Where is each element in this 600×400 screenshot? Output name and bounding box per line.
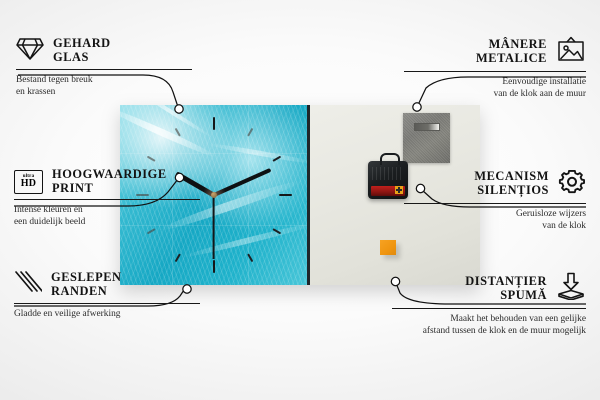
mechanism-hook xyxy=(380,153,400,165)
picture-frame-icon xyxy=(556,36,586,68)
clock-center-hub xyxy=(211,192,217,198)
battery xyxy=(371,186,405,196)
feature-geslepen-randen[interactable]: GESLEPEN RANDEN Gladde en veilige afwerk… xyxy=(14,270,200,320)
feature-description: Geruisloze wijzers van de klok xyxy=(404,208,586,232)
clock-second-hand xyxy=(213,195,215,259)
divider xyxy=(16,69,192,70)
diagonal-lines-icon xyxy=(14,270,42,300)
foam-spacer xyxy=(380,240,396,255)
divider xyxy=(14,303,200,304)
battery-plus-icon xyxy=(395,186,403,194)
press-down-icon xyxy=(556,272,586,305)
infographic-canvas: GEHARD GLAS Bestand tegen breuk en krass… xyxy=(0,0,600,400)
feature-title: GEHARD GLAS xyxy=(53,37,111,65)
divider xyxy=(404,203,586,204)
diamond-icon xyxy=(16,36,44,66)
hanger-slot xyxy=(414,123,440,131)
feature-description: Bestand tegen breuk en krassen xyxy=(16,74,192,98)
divider xyxy=(404,71,586,72)
feature-title: GESLEPEN RANDEN xyxy=(51,271,122,299)
metal-hanger-plate xyxy=(403,113,450,163)
feature-description: Gladde en veilige afwerking xyxy=(14,308,200,320)
feature-description: Eenvoudige installatie van de klok aan d… xyxy=(404,76,586,100)
feature-description: Maakt het behouden van een gelijke afsta… xyxy=(392,313,586,337)
divider xyxy=(14,199,200,200)
feature-title: HOOGWAARDIGE PRINT xyxy=(52,168,167,196)
feature-title: MÂNERE METALICE xyxy=(476,38,547,66)
feature-manere-metalice[interactable]: MÂNERE METALICE Eenvoudige installatie v… xyxy=(404,36,586,100)
feature-title: DISTANȚIER SPUMĂ xyxy=(465,275,547,303)
feature-title: MECANISM SILENȚIOS xyxy=(474,170,549,198)
divider xyxy=(392,308,586,309)
gear-icon xyxy=(558,168,586,200)
ultra-hd-icon: ultra HD xyxy=(14,170,43,194)
feature-description: Intense kleuren en een duidelijk beeld xyxy=(14,204,200,228)
clock-mechanism xyxy=(368,161,408,199)
mechanism-grill xyxy=(372,167,404,180)
feature-distantier-spuma[interactable]: DISTANȚIER SPUMĂ Maakt het behouden van … xyxy=(392,272,586,337)
glass-seam xyxy=(120,153,307,154)
feature-mecanism-silentios[interactable]: MECANISM SILENȚIOS Geruisloze wijzers va… xyxy=(404,168,586,232)
feature-gehard-glas[interactable]: GEHARD GLAS Bestand tegen breuk en krass… xyxy=(16,36,192,98)
feature-hoogwaardige-print[interactable]: ultra HD HOOGWAARDIGE PRINT Intense kleu… xyxy=(14,168,200,228)
